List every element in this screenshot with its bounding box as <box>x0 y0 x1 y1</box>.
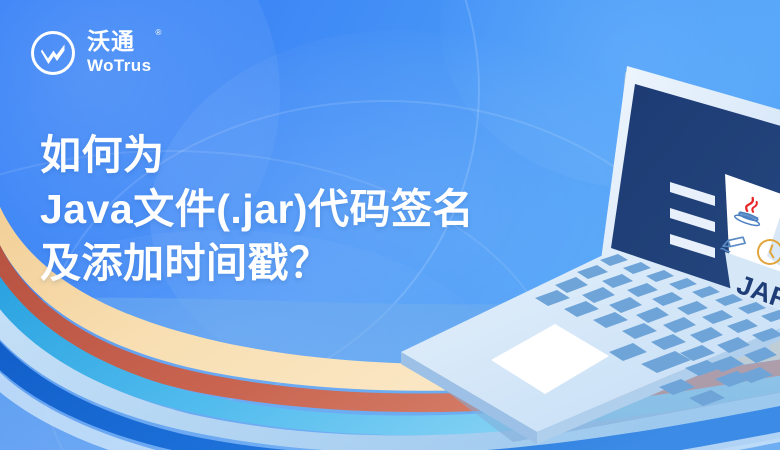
banner-root: 沃通® WoTrus 如何为 Java文件(.jar)代码签名 及添加时间戳？ <box>0 0 780 450</box>
registered-trademark-icon: ® <box>156 29 163 37</box>
wotrus-circle-w-icon <box>28 28 78 78</box>
logo-chinese-name: 沃通® <box>87 30 151 53</box>
headline-line-3: 及添加时间戳？ <box>40 236 474 290</box>
logo-wordmark: 沃通® WoTrus <box>87 30 151 76</box>
page-title: 如何为 Java文件(.jar)代码签名 及添加时间戳？ <box>40 128 474 290</box>
wotrus-logo[interactable]: 沃通® WoTrus <box>28 28 151 78</box>
logo-english-name: WoTrus <box>87 57 151 74</box>
logo-chinese-text: 沃通 <box>87 28 135 54</box>
headline-line-1: 如何为 <box>40 128 474 182</box>
headline-line-2: Java文件(.jar)代码签名 <box>40 182 474 236</box>
